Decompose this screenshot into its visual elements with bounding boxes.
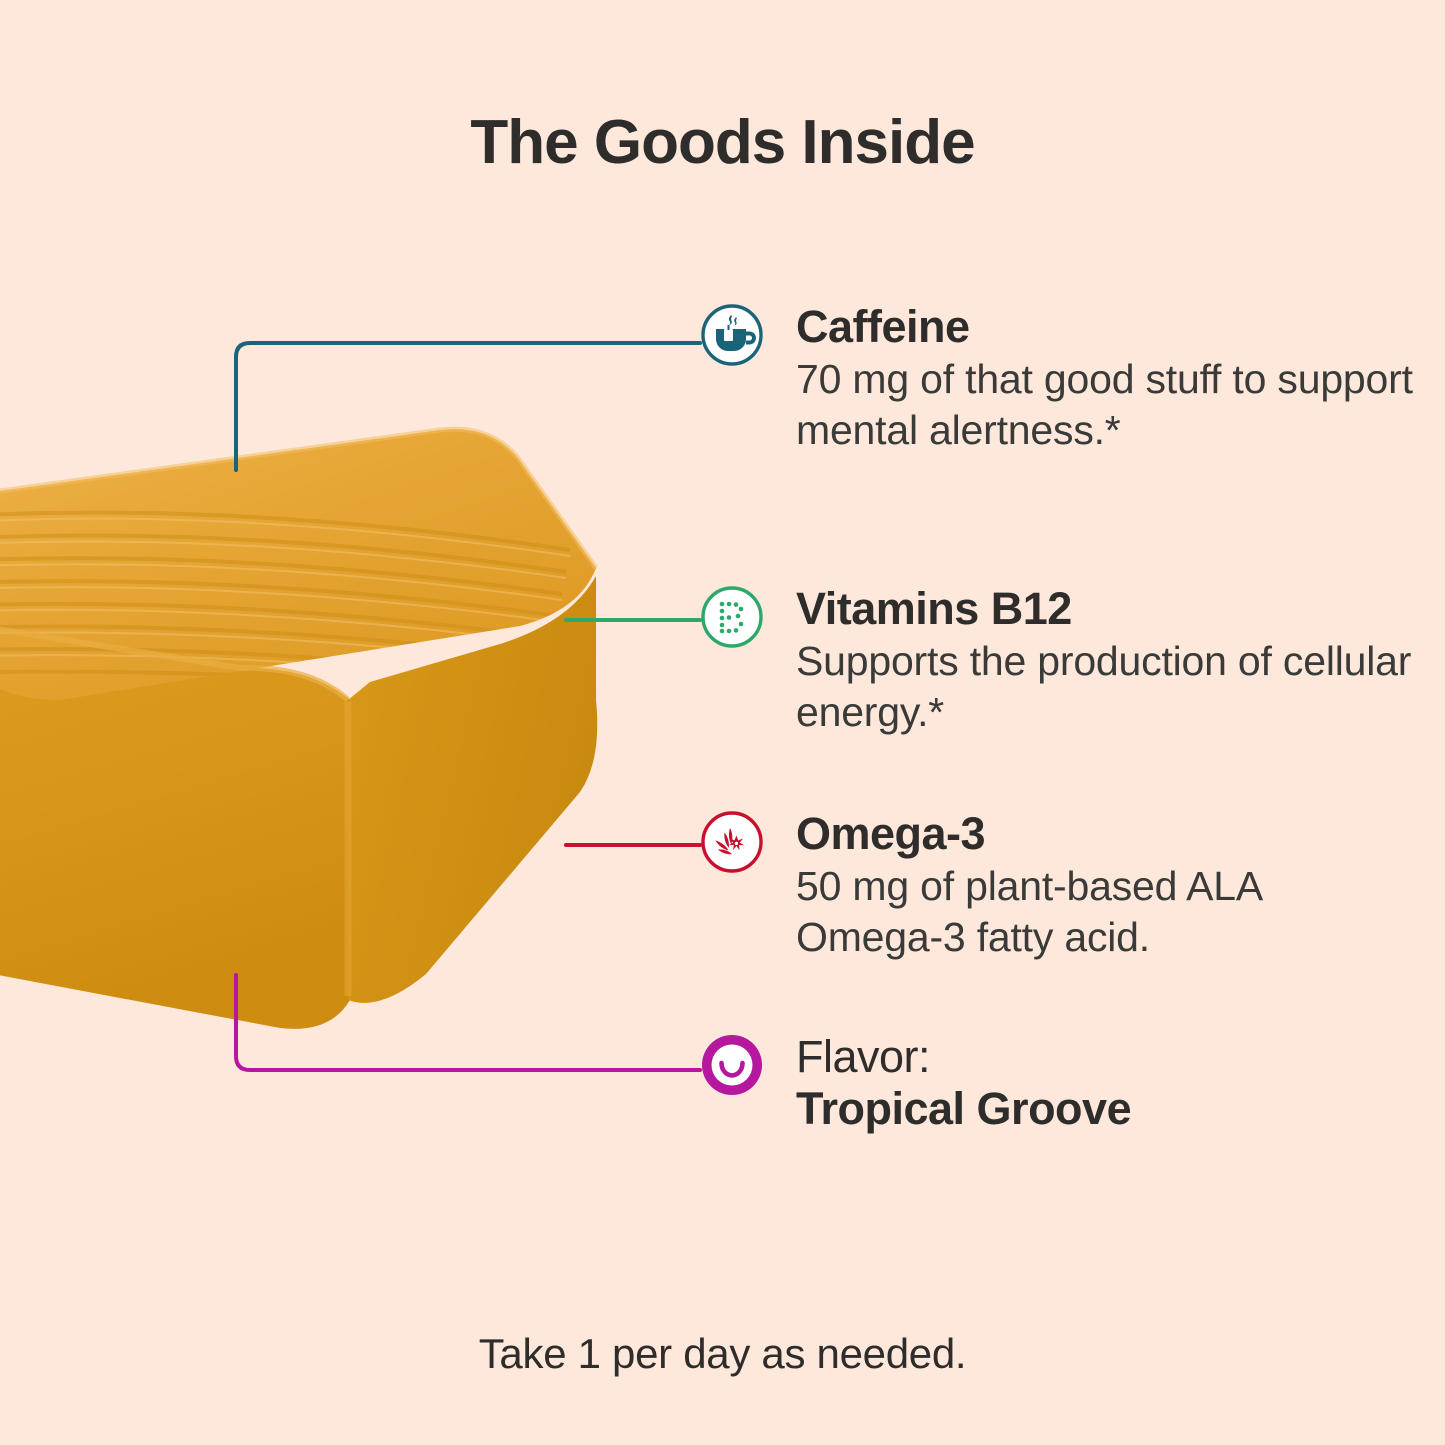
infographic-stage: The Goods Inside: [0, 0, 1445, 1445]
callout-omega: Omega-3 50 mg of plant-based ALA Omega-3…: [700, 810, 1416, 963]
callout-caffeine: Caffeine 70 mg of that good stuff to sup…: [700, 303, 1416, 456]
page-title: The Goods Inside: [0, 112, 1445, 174]
flax-sprig-icon: [700, 810, 764, 874]
callout-body: 50 mg of plant-based ALA Omega-3 fatty a…: [796, 861, 1416, 963]
callout-b12: Vitamins B12 Supports the production of …: [700, 585, 1416, 738]
smiley-face-icon: [700, 1033, 764, 1097]
callout-subheading: Tropical Groove: [796, 1084, 1131, 1134]
callout-body: 70 mg of that good stuff to support ment…: [796, 354, 1416, 456]
callout-text-omega: Omega-3 50 mg of plant-based ALA Omega-3…: [796, 810, 1416, 963]
callout-body: Supports the production of cellular ener…: [796, 636, 1416, 738]
callout-heading: Caffeine: [796, 303, 1416, 350]
product-gummy-image: [0, 400, 640, 1040]
callout-flavor: Flavor: Tropical Groove: [700, 1033, 1131, 1134]
callout-heading: Vitamins B12: [796, 585, 1416, 632]
callout-heading: Omega-3: [796, 810, 1416, 857]
gummy-illustration: [0, 400, 640, 1040]
coffee-cup-icon: [700, 303, 764, 367]
callout-text-flavor: Flavor: Tropical Groove: [796, 1033, 1131, 1134]
usage-instruction: Take 1 per day as needed.: [0, 1330, 1445, 1378]
callout-text-b12: Vitamins B12 Supports the production of …: [796, 585, 1416, 738]
callout-text-caffeine: Caffeine 70 mg of that good stuff to sup…: [796, 303, 1416, 456]
callout-heading: Flavor:: [796, 1033, 1131, 1080]
vitamin-b-dots-icon: [700, 585, 764, 649]
